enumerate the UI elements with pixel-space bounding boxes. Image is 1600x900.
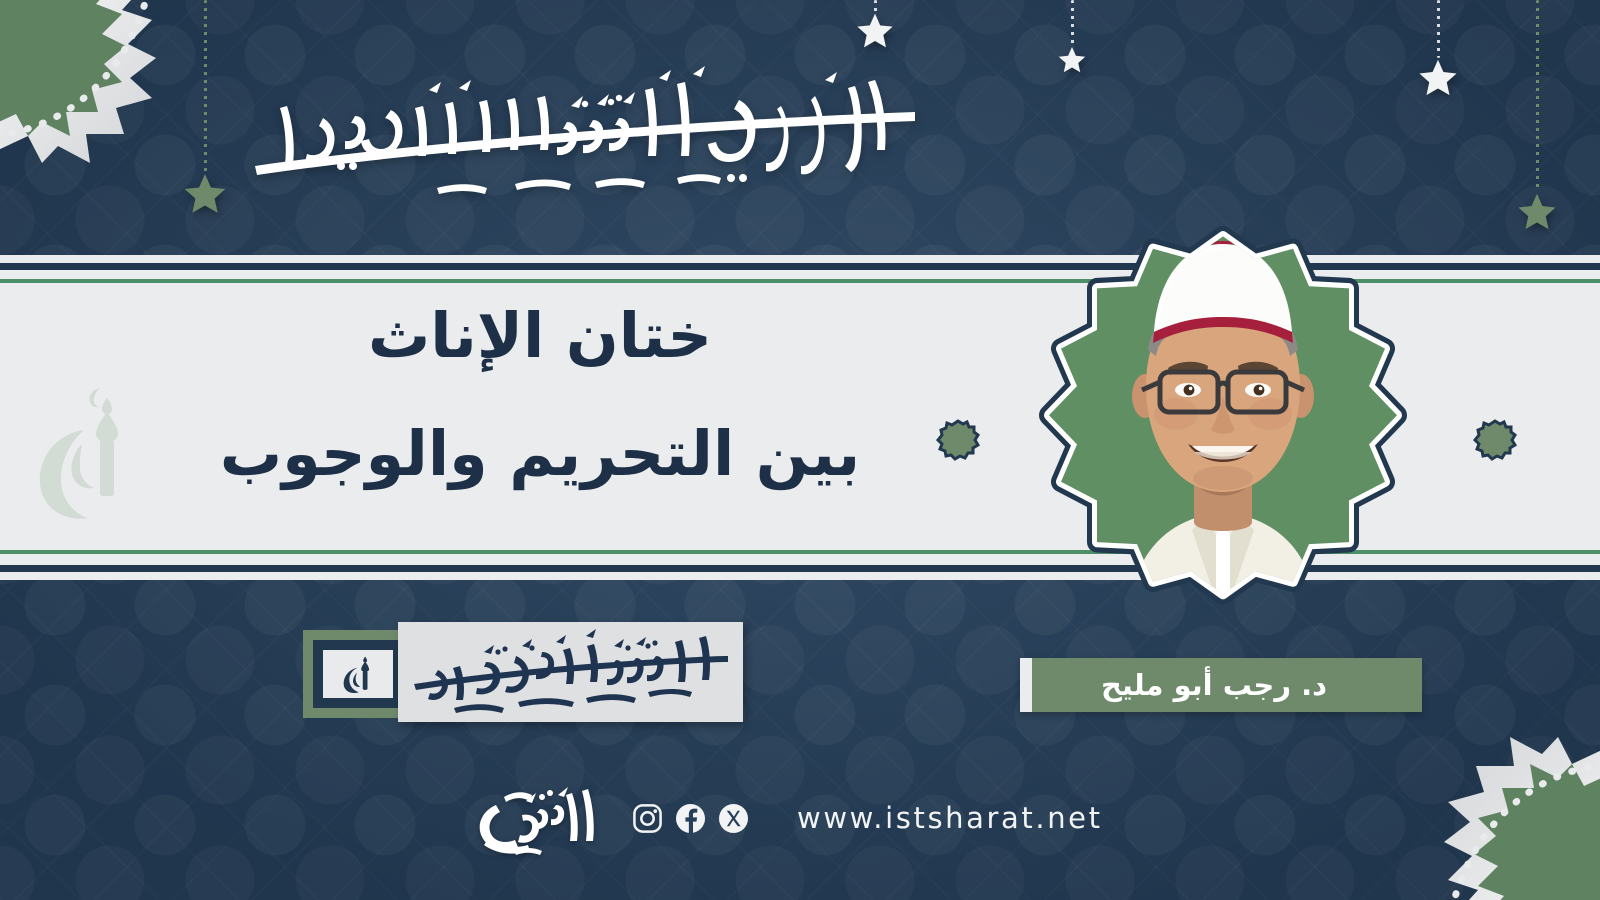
- x-twitter-icon[interactable]: [718, 803, 749, 834]
- name-bar-accent-tick: [1020, 658, 1032, 712]
- promo-banner: بوابة الاستشارات الإلكترونية ختان الإناث…: [0, 0, 1600, 900]
- page-title: ختان الإناث بين التحريم والوجوب: [150, 292, 930, 498]
- title-line-2: بين التحريم والوجوب: [150, 410, 930, 498]
- star-string: [204, 0, 207, 172]
- speaker-portrait: [1008, 200, 1438, 620]
- hanging-star-white-mid: [1057, 0, 1087, 75]
- star-shape: [855, 11, 895, 51]
- footer-bar: المجتمع www.istsharat.net: [470, 778, 1103, 858]
- speaker-photo: [1008, 200, 1438, 620]
- social-icons: [632, 803, 749, 834]
- hanging-star-white-right: [1417, 0, 1459, 99]
- rosette-dot-right: [1472, 418, 1518, 464]
- plaque-calligraphy-sheet: استشارات فقهية: [398, 622, 743, 722]
- rosette-dot-left: [935, 418, 981, 464]
- title-line-1: ختان الإناث: [150, 292, 930, 380]
- star-shape: [1417, 57, 1459, 99]
- star-shape: [1057, 45, 1087, 75]
- facebook-icon[interactable]: [675, 803, 706, 834]
- star-string: [1536, 0, 1539, 192]
- consultations-plaque: استشارات فقهية: [303, 622, 743, 727]
- instagram-icon[interactable]: [632, 803, 663, 834]
- website-url[interactable]: www.istsharat.net: [797, 801, 1103, 835]
- hanging-star-green-right: [1516, 0, 1558, 233]
- star-string: [1071, 0, 1074, 46]
- hanging-star-white-left: [855, 0, 895, 51]
- portal-calligraphy: بوابة الاستشارات الإلكترونية: [215, 62, 935, 222]
- speaker-name: د. رجب أبو مليح: [1101, 668, 1341, 702]
- star-shape: [1516, 191, 1558, 233]
- crescent-minaret-watermark: [22, 378, 142, 523]
- community-logo: المجتمع: [470, 779, 600, 857]
- speaker-name-bar: د. رجب أبو مليح: [1020, 658, 1422, 712]
- crescent-minaret-logo: [323, 650, 393, 698]
- star-string: [1437, 0, 1440, 58]
